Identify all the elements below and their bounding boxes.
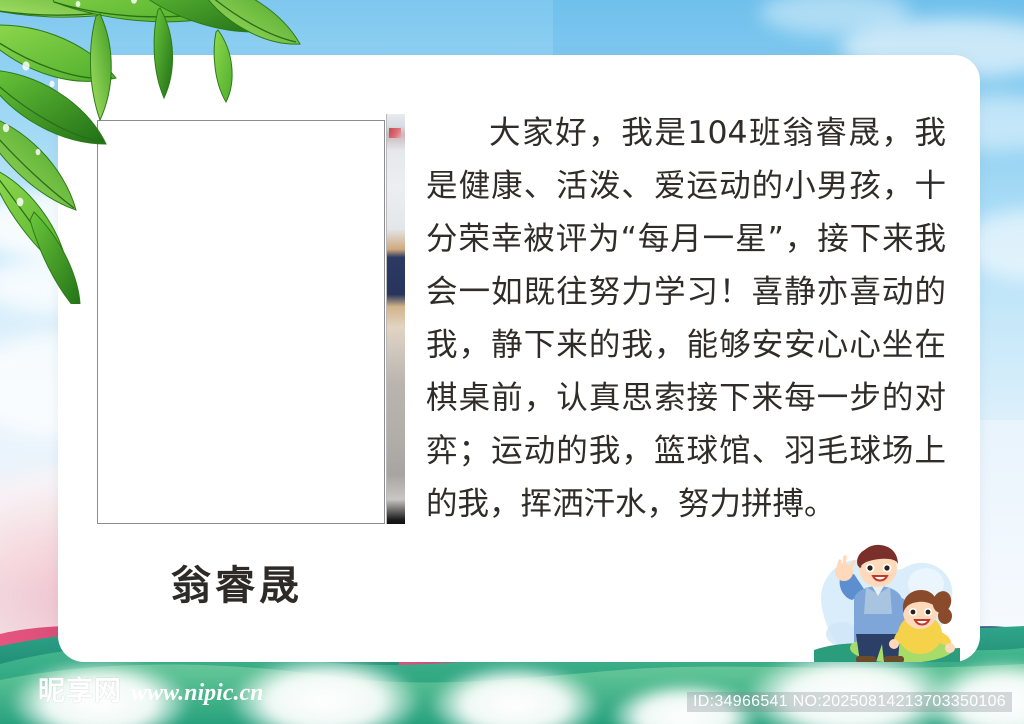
watermark-id: ID:34966541 NO:20250814213703350106 xyxy=(687,692,1012,712)
student-name: 翁睿晟 xyxy=(171,553,303,611)
photo-edge-sliver xyxy=(386,114,405,524)
poster-canvas: 翁睿晟 大家好，我是104班翁睿晟，我是健康、活泼、爱运动的小男孩，十分荣幸被评… xyxy=(0,0,1024,724)
green-leaves-icon xyxy=(0,0,312,304)
essay-text: 大家好，我是104班翁睿晟，我是健康、活泼、爱运动的小男孩，十分荣幸被评为“每月… xyxy=(426,107,946,531)
cartoon-kids-icon xyxy=(814,538,960,662)
